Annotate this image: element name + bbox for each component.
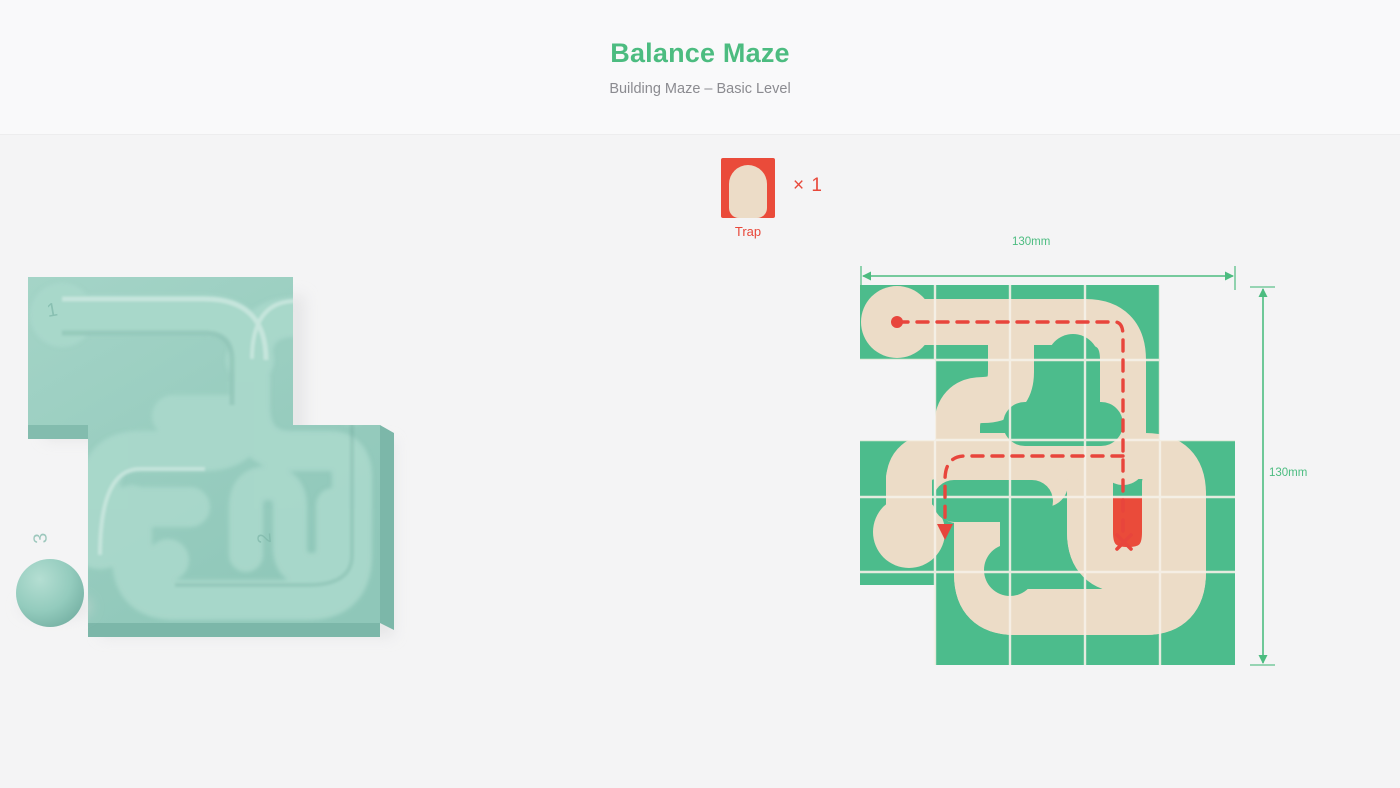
svg-text:3: 3 [30, 532, 52, 544]
maze-ball [16, 559, 91, 627]
trap-tile-icon [721, 158, 775, 218]
dimension-height [1250, 287, 1275, 665]
maze-3d-render: 1 3 2 [0, 255, 470, 705]
maze-plan-svg [845, 232, 1295, 682]
maze-model-panel: 1 3 2 [0, 255, 470, 705]
svg-text:2: 2 [254, 532, 276, 544]
page-title: Balance Maze [0, 38, 1400, 69]
trap-label: Trap [711, 224, 785, 239]
model-engraved-number-3: 3 [30, 532, 52, 544]
trap-count: × 1 [793, 175, 823, 197]
trap-bulb-icon [729, 165, 767, 218]
model-engraved-number-2: 2 [254, 532, 276, 544]
page-subtitle: Building Maze – Basic Level [0, 81, 1400, 97]
route-start-dot [891, 316, 903, 328]
maze-plan-panel: 130mm 130mm [845, 232, 1295, 682]
page-header: Balance Maze Building Maze – Basic Level [0, 0, 1400, 135]
